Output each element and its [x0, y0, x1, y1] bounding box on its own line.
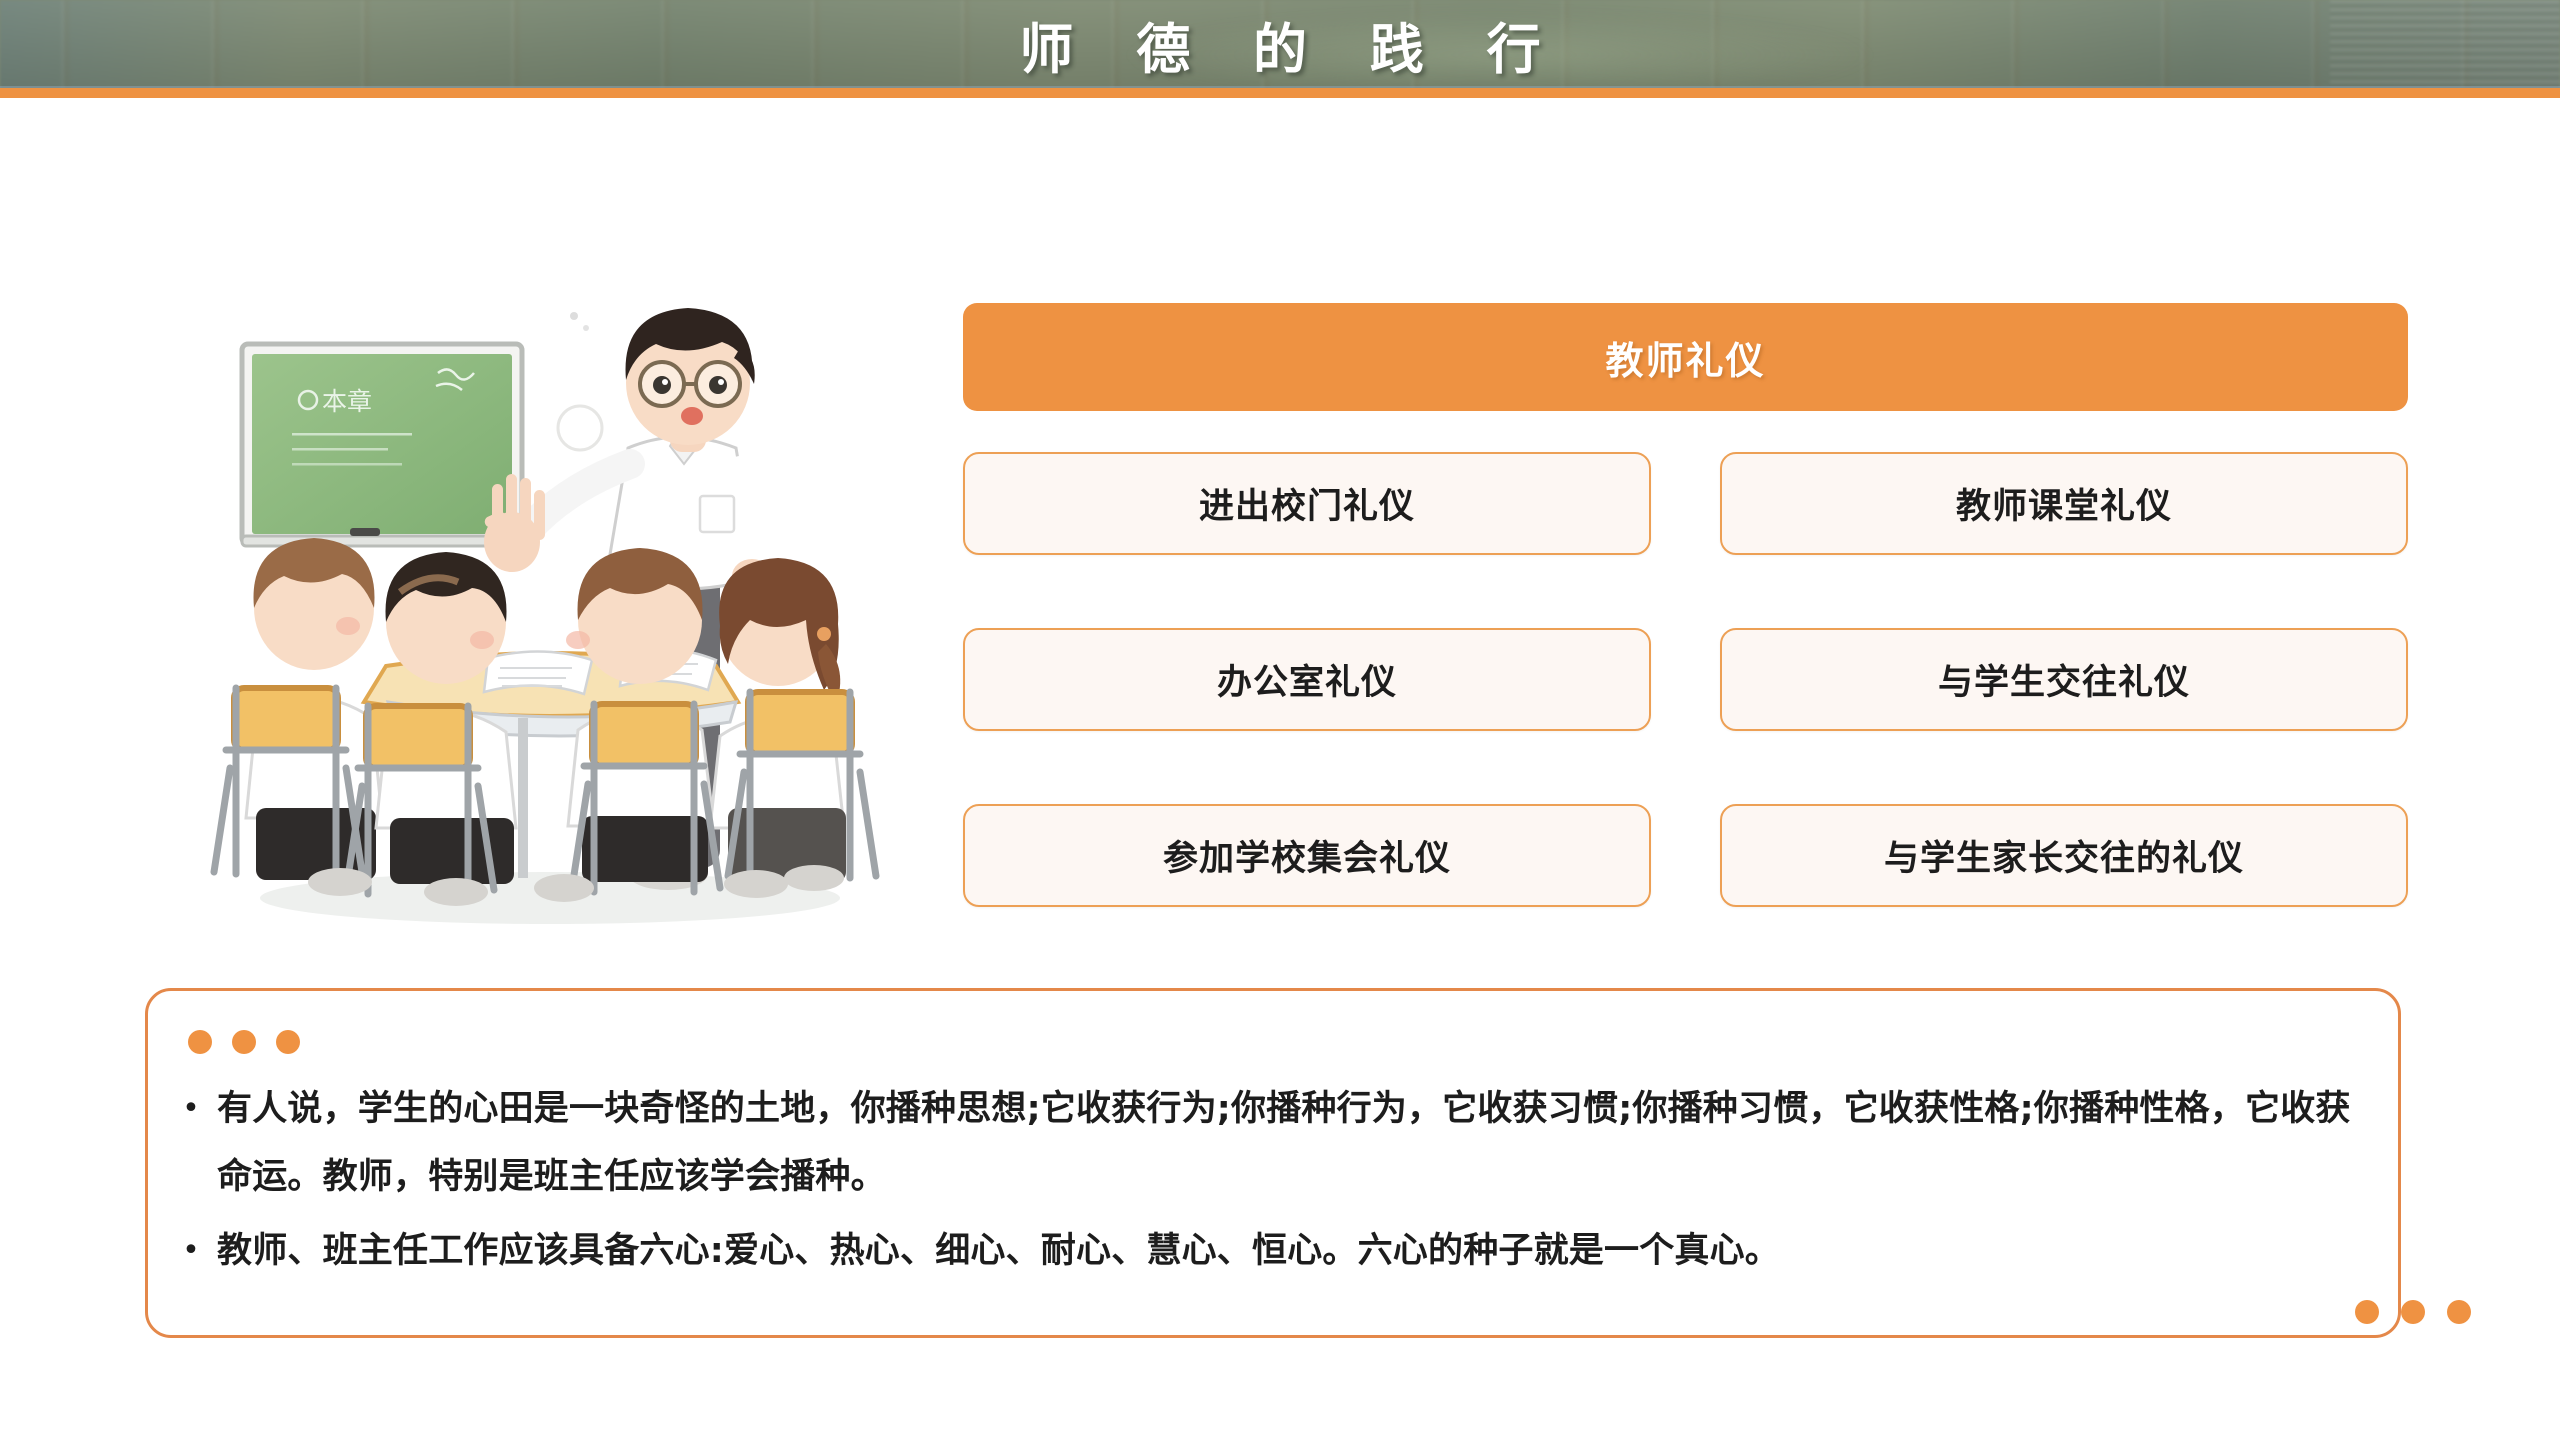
etiquette-button-2-label: 教师课堂礼仪 — [1956, 478, 2172, 529]
etiquette-button-6[interactable]: 与学生家长交往的礼仪 — [1720, 804, 2408, 907]
note-text-2: 教师、班主任工作应该具备六心:爱心、热心、细心、耐心、慧心、恒心。六心的种子就是… — [217, 1217, 2385, 1285]
etiquette-button-4-label: 与学生交往礼仪 — [1938, 654, 2190, 705]
note-text-1: 有人说，学生的心田是一块奇怪的土地，你播种思想;它收获行为;你播种行为，它收获习… — [217, 1075, 2385, 1211]
slide-header: 师 德 的 践 行 — [0, 0, 2560, 98]
list-item: • 有人说，学生的心田是一块奇怪的土地，你播种思想;它收获行为;你播种行为，它收… — [165, 1075, 2385, 1211]
etiquette-button-1-label: 进出校门礼仪 — [1199, 478, 1415, 529]
svg-text:本章: 本章 — [322, 387, 372, 416]
etiquette-button-5-label: 参加学校集会礼仪 — [1163, 830, 1451, 881]
note-list: • 有人说，学生的心田是一块奇怪的土地，你播种思想;它收获行为;你播种行为，它收… — [165, 1075, 2385, 1291]
decor-dot-icon — [232, 1030, 256, 1054]
decor-dot-icon — [188, 1030, 212, 1054]
etiquette-button-3[interactable]: 办公室礼仪 — [963, 628, 1651, 731]
bullet-icon: • — [165, 1075, 217, 1143]
decor-dot-icon — [2355, 1300, 2379, 1324]
etiquette-button-2[interactable]: 教师课堂礼仪 — [1720, 452, 2408, 555]
decor-dots-bottom-right — [2355, 1300, 2471, 1324]
etiquette-button-3-label: 办公室礼仪 — [1217, 654, 1397, 705]
etiquette-button-4[interactable]: 与学生交往礼仪 — [1720, 628, 2408, 731]
decor-dot-icon — [2401, 1300, 2425, 1324]
classroom-illustration: 本章 — [200, 288, 900, 933]
etiquette-button-1[interactable]: 进出校门礼仪 — [963, 452, 1651, 555]
etiquette-button-6-label: 与学生家长交往的礼仪 — [1884, 830, 2244, 881]
decor-dot-icon — [276, 1030, 300, 1054]
decor-dots-top-left — [188, 1030, 300, 1054]
panel-title-banner: 教师礼仪 — [963, 303, 2408, 411]
decor-dot-icon — [2447, 1300, 2471, 1324]
etiquette-button-grid: 进出校门礼仪 教师课堂礼仪 办公室礼仪 与学生交往礼仪 参加学校集会礼仪 与学生… — [963, 452, 2408, 907]
bullet-icon: • — [165, 1217, 217, 1285]
etiquette-button-5[interactable]: 参加学校集会礼仪 — [963, 804, 1651, 907]
header-accent-rule — [0, 88, 2560, 98]
list-item: • 教师、班主任工作应该具备六心:爱心、热心、细心、耐心、慧心、恒心。六心的种子… — [165, 1217, 2385, 1285]
page-title: 师 德 的 践 行 — [0, 0, 2560, 88]
chalkboard-illustration: 本章 — [242, 344, 532, 546]
